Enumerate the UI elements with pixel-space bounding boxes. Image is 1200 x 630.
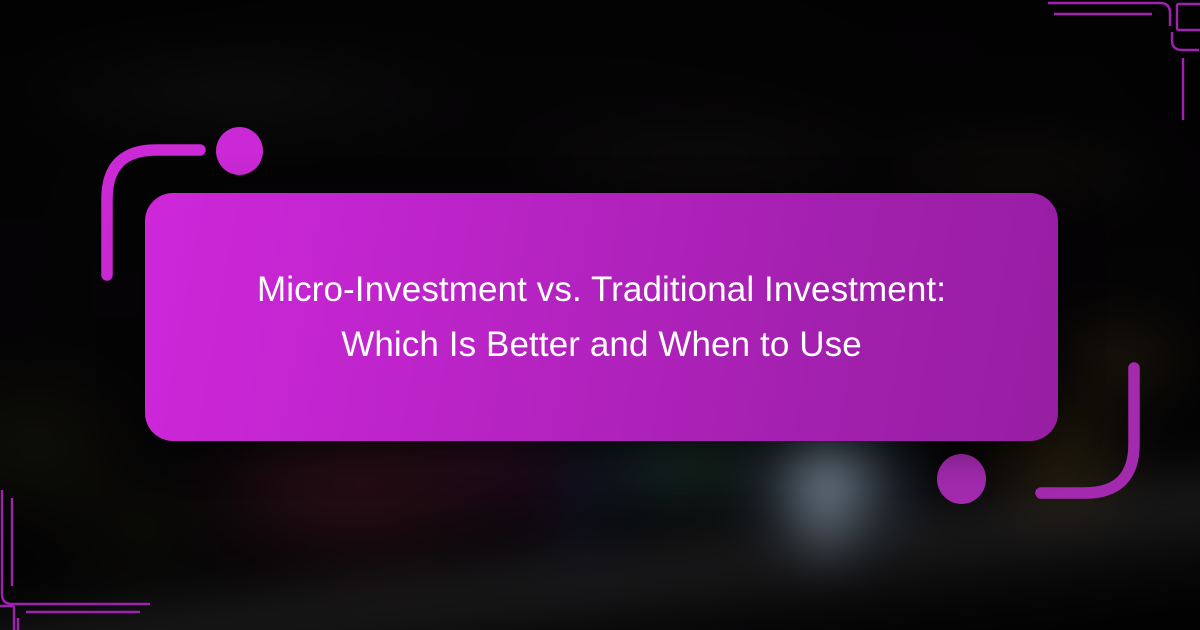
accent-dot-bottom-right-icon (937, 454, 986, 504)
page-title: Micro-Investment vs. Traditional Investm… (212, 262, 992, 372)
accent-dot-top-left-icon (216, 127, 263, 175)
title-card: Micro-Investment vs. Traditional Investm… (145, 193, 1058, 441)
circuit-trace-top-right-icon (1020, 0, 1200, 120)
circuit-trace-bottom-left-icon (0, 490, 180, 630)
social-card-canvas: Micro-Investment vs. Traditional Investm… (0, 0, 1200, 630)
